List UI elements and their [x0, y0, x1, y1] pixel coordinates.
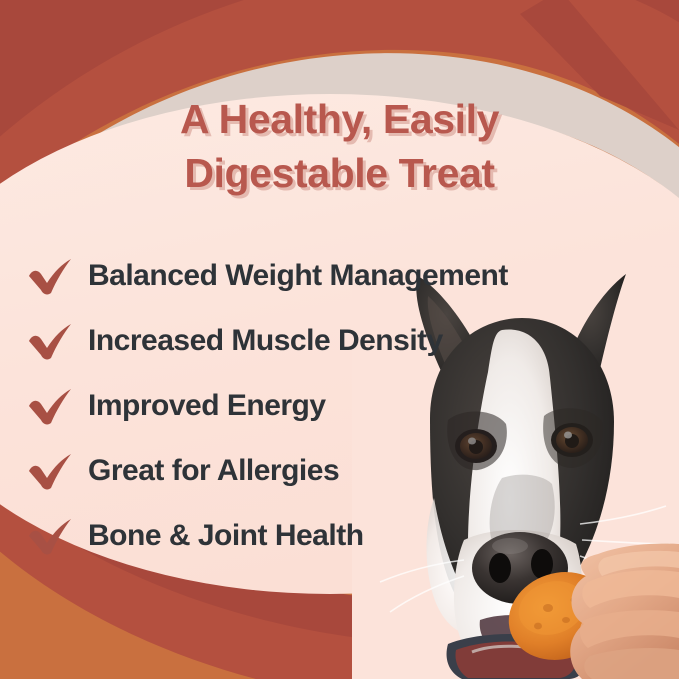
check-icon	[26, 385, 74, 427]
list-item-label: Balanced Weight Management	[88, 259, 508, 293]
list-item: Improved Energy	[0, 373, 679, 438]
list-item: Increased Muscle Density	[0, 308, 679, 373]
check-icon	[26, 320, 74, 362]
list-item: Balanced Weight Management	[0, 243, 679, 308]
dog-treat-benefits-infographic: A Healthy, Easily Digestable Treat Balan…	[0, 0, 679, 679]
list-item: Bone & Joint Health	[0, 503, 679, 568]
list-item-label: Improved Energy	[88, 389, 326, 423]
check-icon	[26, 450, 74, 492]
list-item-label: Increased Muscle Density	[88, 324, 443, 358]
benefits-checklist: Balanced Weight Management Increased Mus…	[0, 243, 679, 568]
list-item-label: Great for Allergies	[88, 454, 339, 488]
check-icon	[26, 255, 74, 297]
list-item: Great for Allergies	[0, 438, 679, 503]
list-item-label: Bone & Joint Health	[88, 519, 364, 553]
check-icon	[26, 515, 74, 557]
